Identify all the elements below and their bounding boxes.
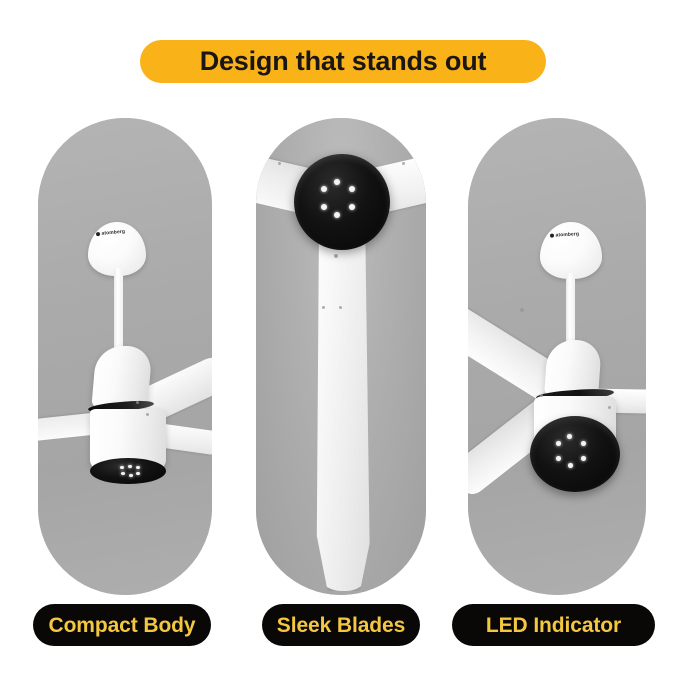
- blade-screw: [146, 413, 149, 416]
- led-indicator-lens: [530, 416, 620, 492]
- led-indicator-hub: [294, 154, 390, 250]
- blade-screw: [520, 308, 524, 312]
- blade-screw: [334, 254, 338, 258]
- led-dot: [334, 179, 340, 185]
- led-dot: [334, 212, 340, 218]
- led-dot: [349, 204, 355, 210]
- led-dot: [568, 463, 573, 468]
- fan-downrod: [114, 268, 123, 356]
- feature-label-text: LED Indicator: [486, 615, 621, 636]
- led-dot: [128, 465, 132, 468]
- led-dot: [121, 472, 125, 475]
- led-dot: [129, 474, 133, 477]
- blade-screw: [136, 401, 139, 404]
- product-panel-led-indicator: atomberg: [468, 118, 646, 595]
- led-dot: [321, 186, 327, 192]
- led-dot: [556, 441, 561, 446]
- led-indicator-ring: [90, 458, 166, 484]
- product-panel-sleek-blades: [256, 118, 426, 595]
- led-dot: [581, 456, 586, 461]
- led-dot: [567, 434, 572, 439]
- hub-screw: [278, 162, 281, 165]
- headline-banner: Design that stands out: [140, 40, 546, 83]
- blade-screw: [322, 306, 325, 309]
- product-panel-compact-body: atomberg: [38, 118, 212, 595]
- led-dot: [556, 456, 561, 461]
- fan-blade-main: [312, 196, 372, 591]
- feature-label-led-indicator: LED Indicator: [452, 604, 655, 646]
- blade-screw: [608, 406, 611, 409]
- led-dot: [349, 186, 355, 192]
- brand-mark-icon: [550, 234, 554, 238]
- led-dot: [321, 204, 327, 210]
- brand-name: atomberg: [555, 231, 579, 238]
- feature-label-text: Sleek Blades: [277, 615, 405, 636]
- led-dot: [120, 466, 124, 469]
- promo-graphic: Design that stands out atomberg: [0, 0, 679, 679]
- page-title: Design that stands out: [200, 48, 487, 75]
- led-dot: [136, 472, 140, 475]
- blade-screw: [339, 306, 342, 309]
- feature-label-compact-body: Compact Body: [33, 604, 211, 646]
- fan-motor-shoulder: [91, 346, 152, 408]
- led-dot: [581, 441, 586, 446]
- led-dot: [136, 466, 140, 469]
- feature-label-text: Compact Body: [49, 615, 196, 636]
- brand-mark-icon: [96, 232, 100, 236]
- blade-screw: [540, 394, 543, 397]
- hub-screw: [402, 162, 405, 165]
- feature-label-sleek-blades: Sleek Blades: [262, 604, 420, 646]
